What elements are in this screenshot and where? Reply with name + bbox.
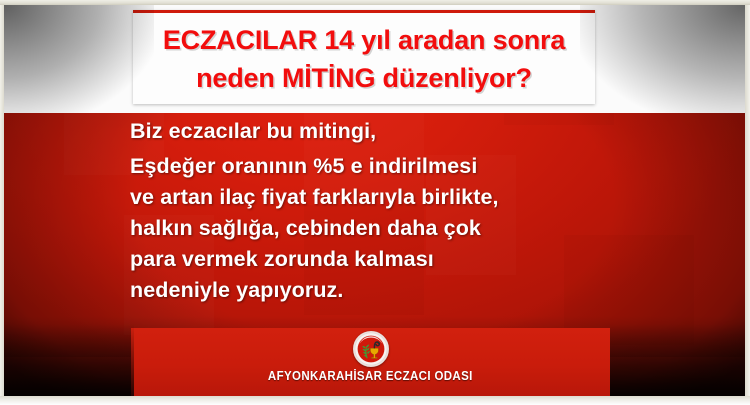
body-line-6: nedeniyle yapıyoruz. <box>130 275 670 306</box>
title-line-1: ECZACILAR 14 yıl aradan sonra <box>163 21 565 59</box>
frame-bottom-edge <box>0 396 750 405</box>
body-line-3: ve artan ilaç fiyat farklarıyla birlikte… <box>130 182 670 213</box>
frame-top-edge <box>0 0 750 5</box>
frame-left-edge <box>0 0 4 405</box>
body-line-1: Biz eczacılar bu mitingi, <box>130 116 670 147</box>
body-line-5: para vermek zorunda kalması <box>130 244 670 275</box>
pharmacy-emblem-icon <box>353 331 389 367</box>
title-card: ECZACILAR 14 yıl aradan sonra neden MİTİ… <box>133 10 595 104</box>
body-line-4: halkın sağlığa, cebinden daha çok <box>130 213 670 244</box>
body-copy: Biz eczacılar bu mitingi, Eşdeğer oranın… <box>130 116 670 306</box>
body-line-2: Eşdeğer oranının %5 e indirilmesi <box>130 151 670 182</box>
poster: ECZACILAR 14 yıl aradan sonra neden MİTİ… <box>0 0 750 405</box>
organization-name: AFYONKARAHİSAR ECZACI ODASI <box>268 369 473 383</box>
footer-band: AFYONKARAHİSAR ECZACI ODASI <box>131 328 610 396</box>
frame-right-edge <box>745 0 750 405</box>
title-line-2: neden MİTİNG düzenliyor? <box>196 59 532 97</box>
